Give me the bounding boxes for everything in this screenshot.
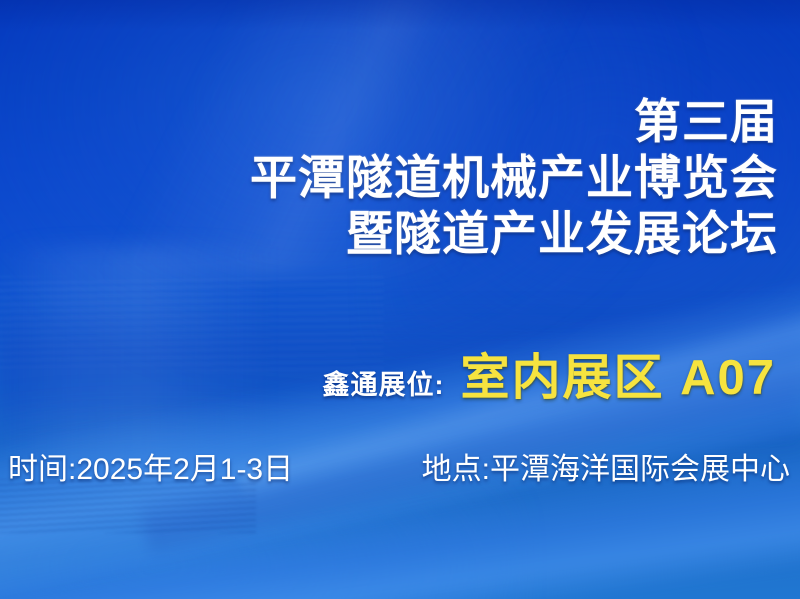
exhibition-poster: 第三届 平潭隧道机械产业博览会 暨隧道产业发展论坛 鑫通展位: 室内展区 A07… — [0, 0, 800, 599]
event-venue: 地点:平潭海洋国际会展中心 — [422, 444, 790, 488]
event-date: 时间:2025年2月1-3日 — [8, 444, 293, 488]
poster-title-block: 第三届 平潭隧道机械产业博览会 暨隧道产业发展论坛 — [250, 98, 778, 257]
booth-label: 鑫通展位: — [322, 363, 444, 402]
title-line-edition: 第三届 — [250, 98, 778, 145]
title-line-expo-name: 平潭隧道机械产业博览会 — [250, 154, 778, 201]
poster-content: 第三届 平潭隧道机械产业博览会 暨隧道产业发展论坛 鑫通展位: 室内展区 A07… — [0, 0, 800, 599]
title-line-forum-name: 暨隧道产业发展论坛 — [250, 210, 778, 257]
booth-number: 室内展区 A07 — [460, 338, 776, 409]
booth-info-row: 鑫通展位: 室内展区 A07 — [322, 338, 776, 409]
footer-info-row: 时间:2025年2月1-3日 地点:平潭海洋国际会展中心 — [8, 444, 790, 488]
